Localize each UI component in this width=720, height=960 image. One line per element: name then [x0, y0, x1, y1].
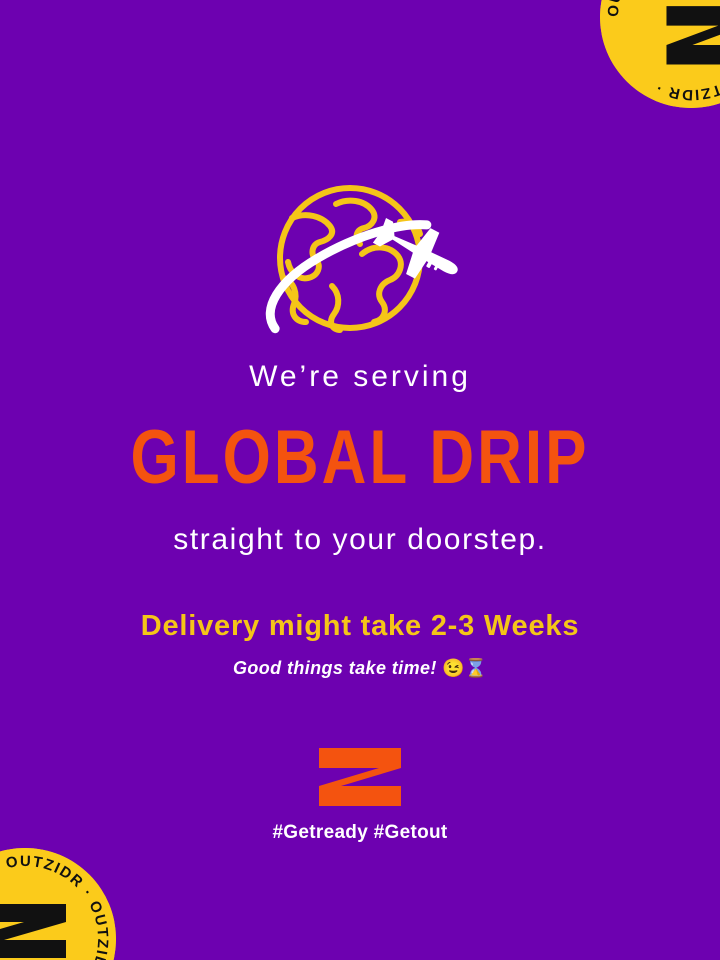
promo-poster: OUTZIDR · OUTZIDR · OUTZIDR · OUTZIDR · [0, 0, 720, 960]
brand-seal-bottom-left: OUTZIDR · OUTZIDR · OUTZIDR · OUTZIDR · … [0, 848, 116, 960]
globe-airplane-emblem [0, 182, 720, 347]
footer-brand-lockup: #Getready #Getout [0, 748, 720, 842]
brand-seal-top-right: OUTZIDR · OUTZIDR · OUTZIDR · OUTZIDR · [600, 0, 720, 108]
reassurance-text: Good things take time! [233, 658, 437, 678]
delivery-note-text: Delivery might take 2-3 Weeks [0, 555, 720, 641]
hashtags-text: #Getready #Getout [0, 806, 720, 842]
outzidr-z-logo [319, 748, 401, 806]
eyebrow-text: We’re serving [0, 362, 720, 394]
copy-block: We’re serving GLOBAL DRIP straight to yo… [0, 362, 720, 677]
wink-hourglass-emoji: 😉⌛ [442, 658, 487, 678]
headline-text: GLOBAL DRIP [0, 394, 720, 496]
reassurance-note: Good things take time! 😉⌛ [0, 641, 720, 677]
